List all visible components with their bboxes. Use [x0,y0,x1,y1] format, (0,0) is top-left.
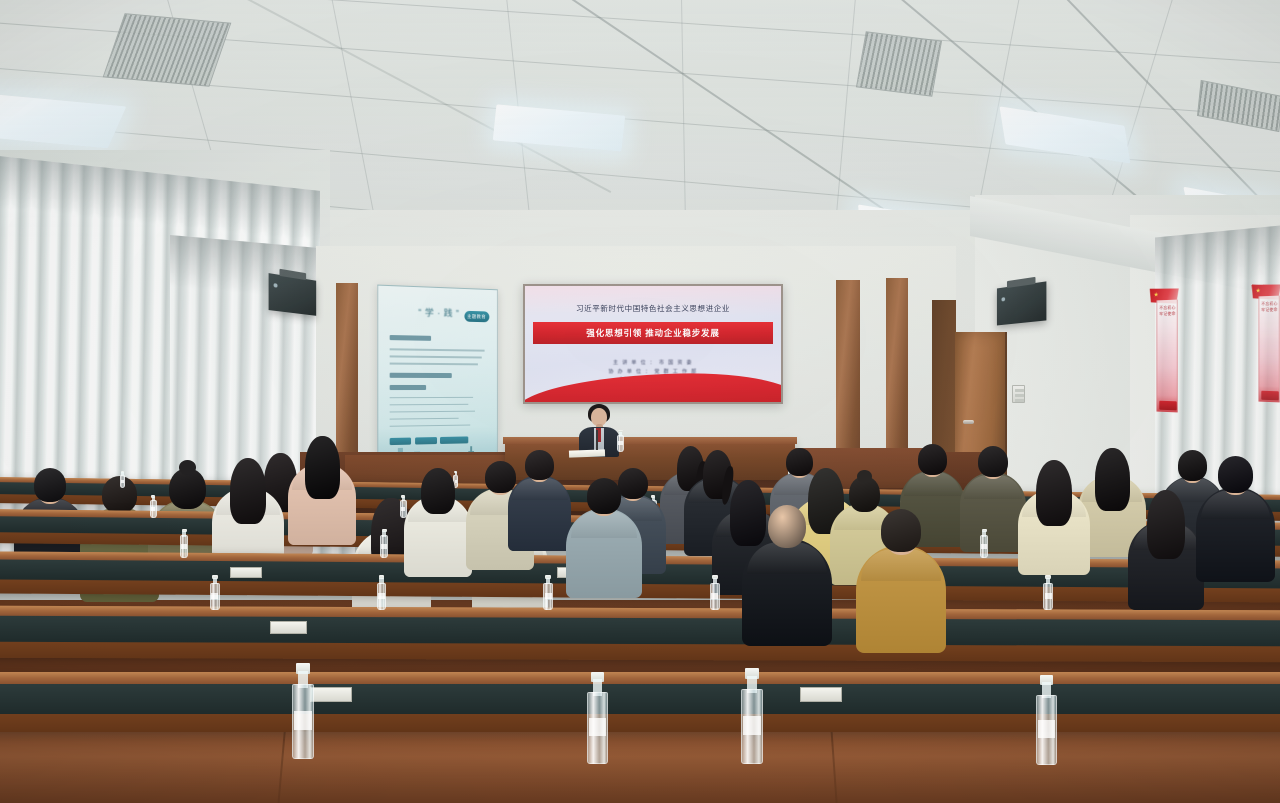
water-bottle[interactable] [180,529,188,558]
audience-member [288,438,356,552]
water-bottle[interactable] [710,575,720,610]
audience-hair [305,436,340,499]
audience-member [742,505,832,655]
audience-hair [881,509,922,552]
audience-member [1196,458,1275,590]
desk-front-panel [0,684,1280,714]
bottle-label [121,480,124,483]
water-bottle [617,430,624,452]
audience-hair [1036,460,1073,526]
audience-member [566,480,642,606]
audience-member [856,512,946,662]
bottle-body [120,475,125,488]
conference-room-photo: “ 学 · 践 ” 主题教育 [0,0,1280,803]
water-bottle[interactable] [380,529,388,558]
audience-hair [525,450,554,480]
audience-hair [421,468,455,514]
water-bottle[interactable] [1043,575,1053,610]
audience-member [404,470,472,584]
desk-row [0,605,1280,662]
desk-top [0,672,1280,684]
bottle-body [180,535,188,558]
presenter-papers [569,449,605,457]
bottle-label [981,544,986,549]
audience-hair-bun [857,470,872,483]
water-bottle[interactable] [377,575,387,610]
bottle-label [378,593,385,600]
water-bottle[interactable] [150,495,157,518]
bottle-label [381,544,386,549]
water-bottle[interactable] [1036,675,1057,765]
water-bottle[interactable] [741,668,763,764]
desk-nameplate [800,687,842,702]
water-bottle[interactable] [980,529,988,558]
audience-hair [978,446,1008,477]
bottle-label [545,593,552,600]
water-bottle[interactable] [210,575,220,610]
bottle-label [181,544,186,549]
audience-hair [1147,490,1185,560]
bottle-body [210,583,220,610]
bottle-label [211,593,218,600]
audience-member [1128,492,1204,618]
audience-member [1018,462,1090,582]
bottle-label [151,507,155,511]
bottle-label [711,593,718,600]
audience-hair [918,444,947,475]
bottle-body [710,583,720,610]
audience-area [0,0,1280,803]
audience-hair [587,478,621,514]
audience-hair [34,468,66,502]
water-bottle[interactable] [120,471,125,488]
bottle-body [377,583,387,610]
water-bottle[interactable] [543,575,553,610]
audience-member [960,448,1026,558]
desk-nameplate [230,567,262,578]
audience-member [508,452,571,558]
bottle-label [1045,593,1052,600]
bottle-body [980,535,988,558]
water-bottle[interactable] [292,663,314,759]
audience-hair [1095,448,1130,511]
audience-head [768,505,806,548]
water-bottle[interactable] [587,672,608,764]
desk-nameplate [270,621,307,634]
bottle-body [1043,583,1053,610]
bottle-body [543,583,553,610]
microphone-icon [596,430,598,450]
desk-front-panel [0,615,1280,646]
bottle-body [380,535,388,558]
desk-nameplate [310,687,352,702]
desk-row [0,672,1280,732]
audience-hair [230,458,267,524]
bottle-body [150,500,157,518]
audience-hair [1218,456,1254,493]
